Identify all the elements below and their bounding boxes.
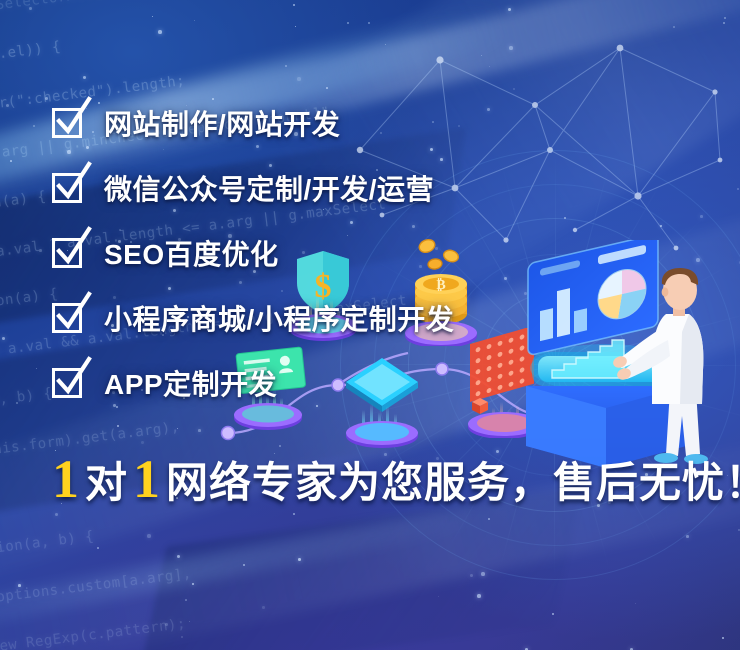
promo-banner: = $(f).querySelectorAll("input[type=chec… [0,0,740,650]
particle [481,572,485,576]
particle [326,87,328,89]
checkbox-checked-icon[interactable] [52,173,82,203]
particle [438,596,439,597]
particle [117,425,119,427]
code-line: = d.index(b.el)) { [0,0,512,74]
checklist-item-1[interactable]: 微信公众号定制/开发/运营 [52,165,692,211]
headline-word-middle: 对 [81,462,131,504]
particle [297,77,301,81]
particle [509,46,513,50]
checklist-item-2[interactable]: SEO百度优化 [52,230,692,276]
checkbox-checked-icon[interactable] [52,108,82,138]
particle [181,636,183,638]
particle [185,599,187,601]
particle [470,574,473,577]
headline: 1 对 1 网络专家为您服务，售后无忧！ [50,452,740,506]
code-line: d.test(a.val) || c.errorMessage [0,616,589,650]
headline-number-first: 1 [50,452,81,506]
particle [368,22,370,24]
particle [165,623,168,626]
particle [488,518,490,520]
particle [45,97,48,100]
particle [2,337,5,340]
particle [477,594,481,598]
checklist-item-label: 网站制作/网站开发 [104,103,340,143]
particle [177,428,178,429]
service-checklist: 网站制作/网站开发 微信公众号定制/开发/运营 SEO百度优化 小程序商城/小程… [52,100,692,425]
particle [141,441,144,444]
particle [152,16,153,17]
checklist-item-label: SEO百度优化 [104,233,279,273]
particle [295,26,296,27]
particle [262,606,265,609]
particle [198,429,201,432]
checklist-item-3[interactable]: 小程序商城/小程序定制开发 [52,295,692,341]
particle [158,30,162,34]
checkbox-checked-icon[interactable] [52,238,82,268]
particle [673,26,675,28]
particle [293,513,295,515]
particle [18,584,21,587]
particle [298,558,301,561]
particle [177,555,180,558]
particle [293,4,295,6]
particle [6,104,9,107]
particle [552,613,554,615]
particle [347,22,349,24]
particle [194,20,195,21]
headline-tail: 网络专家为您服务，售后无忧！ [166,462,740,504]
checklist-item-label: 小程序商城/小程序定制开发 [104,298,454,338]
checklist-item-label: APP定制开发 [104,363,277,403]
particle [36,368,37,369]
checkbox-checked-icon[interactable] [52,368,82,398]
particle [189,621,190,622]
particle [29,7,32,10]
checklist-item-label: 微信公众号定制/开发/运营 [104,168,434,208]
particle [686,535,689,538]
particle [723,22,725,24]
particle [489,66,490,67]
particle [243,564,245,566]
particle [737,188,739,190]
particle [513,88,515,90]
particle [147,534,151,538]
checklist-item-0[interactable]: 网站制作/网站开发 [52,100,692,146]
particle [83,76,86,79]
particle [722,637,724,639]
checklist-item-4[interactable]: APP定制开发 [52,360,692,406]
particle [724,17,726,19]
particle [700,215,703,218]
particle [33,125,35,127]
particle [385,44,386,45]
particle [192,583,194,585]
code-line: = new RegExp(c.pattern); [0,567,583,650]
particle [635,603,636,604]
checkbox-checked-icon[interactable] [52,303,82,333]
headline-number-second: 1 [131,452,162,506]
particle [97,547,99,549]
particle [508,8,511,11]
particle [16,402,18,404]
particle [481,55,482,56]
code-line: = $(f).querySelectorAll("input[type=chec… [0,0,506,26]
code-line: = b.options.custom[a.arg], [0,519,577,610]
particle [39,249,42,252]
particle [55,513,58,516]
particle [285,65,287,67]
particle [10,160,12,162]
